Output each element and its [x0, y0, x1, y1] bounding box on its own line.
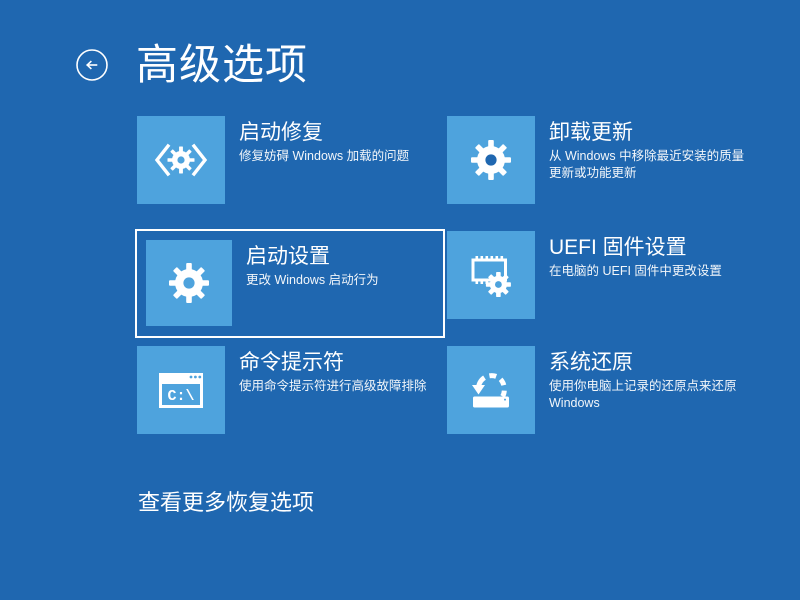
page-header: 高级选项 [74, 36, 308, 94]
chip-gear-icon [467, 253, 515, 297]
tile-description-line: 更新或功能更新 [549, 165, 744, 182]
tile-icon-wrapper: C:\ [137, 346, 225, 434]
tile-description-line: 修复妨碍 Windows 加载的问题 [239, 148, 409, 165]
tile-command-prompt[interactable]: C:\ 命令提示符 使用命令提示符进行高级故障排除 [135, 344, 445, 453]
tile-description: 从 Windows 中移除最近安装的质量 更新或功能更新 [549, 148, 744, 182]
tile-title: UEFI 固件设置 [549, 235, 722, 261]
tile-description: 修复妨碍 Windows 加载的问题 [239, 148, 409, 165]
brackets-gear-icon [153, 143, 209, 177]
tile-startup-repair[interactable]: 启动修复 修复妨碍 Windows 加载的问题 [135, 114, 445, 223]
tile-description-line: 使用命令提示符进行高级故障排除 [239, 378, 427, 395]
tile-description-line: Windows [549, 395, 737, 412]
advanced-options-screen: 高级选项 [0, 0, 800, 600]
tile-text: 系统还原 使用你电脑上记录的还原点来还原 Windows [535, 346, 737, 412]
tile-icon-wrapper [447, 116, 535, 204]
tile-startup-settings[interactable]: 启动设置 更改 Windows 启动行为 [135, 229, 445, 338]
tile-uefi-firmware-settings[interactable]: UEFI 固件设置 在电脑的 UEFI 固件中更改设置 [445, 229, 755, 338]
tile-uninstall-updates[interactable]: 卸载更新 从 Windows 中移除最近安装的质量 更新或功能更新 [445, 114, 755, 223]
tile-system-restore[interactable]: 系统还原 使用你电脑上记录的还原点来还原 Windows [445, 344, 755, 453]
grid-row: C:\ 命令提示符 使用命令提示符进行高级故障排除 [135, 344, 755, 459]
tile-text: 启动设置 更改 Windows 启动行为 [232, 240, 379, 289]
tile-title: 启动设置 [246, 244, 379, 270]
svg-text:C:\: C:\ [167, 388, 194, 405]
tile-icon-wrapper [447, 346, 535, 434]
tile-text: 卸载更新 从 Windows 中移除最近安装的质量 更新或功能更新 [535, 116, 744, 182]
tile-title: 命令提示符 [239, 350, 427, 376]
gear-icon [167, 261, 211, 305]
tile-description: 使用你电脑上记录的还原点来还原 Windows [549, 378, 737, 412]
tile-icon-wrapper [137, 116, 225, 204]
tile-description: 在电脑的 UEFI 固件中更改设置 [549, 263, 722, 280]
tile-title: 启动修复 [239, 120, 409, 146]
tile-description-line: 从 Windows 中移除最近安装的质量 [549, 148, 744, 165]
grid-row: 启动设置 更改 Windows 启动行为 [135, 229, 755, 344]
options-grid: 启动修复 修复妨碍 Windows 加载的问题 [135, 114, 755, 459]
tile-text: 命令提示符 使用命令提示符进行高级故障排除 [225, 346, 427, 395]
back-button[interactable] [74, 47, 110, 83]
console-window-icon: C:\ [157, 370, 205, 410]
see-more-recovery-options-link[interactable]: 查看更多恢复选项 [138, 489, 314, 517]
tile-description-line: 使用你电脑上记录的还原点来还原 [549, 378, 737, 395]
tile-text: UEFI 固件设置 在电脑的 UEFI 固件中更改设置 [535, 231, 722, 280]
tile-description-line: 更改 Windows 启动行为 [246, 272, 379, 289]
tile-title: 系统还原 [549, 350, 737, 376]
grid-row: 启动修复 修复妨碍 Windows 加载的问题 [135, 114, 755, 229]
tile-description: 更改 Windows 启动行为 [246, 272, 379, 289]
tile-description: 使用命令提示符进行高级故障排除 [239, 378, 427, 395]
tile-icon-wrapper [447, 231, 535, 319]
tile-description-line: 在电脑的 UEFI 固件中更改设置 [549, 263, 722, 280]
gear-icon [469, 138, 513, 182]
back-arrow-circle-icon [75, 48, 109, 82]
page-title: 高级选项 [136, 44, 308, 86]
tile-icon-wrapper [146, 240, 232, 326]
drive-restore-icon [467, 368, 515, 412]
tile-title: 卸载更新 [549, 120, 744, 146]
tile-text: 启动修复 修复妨碍 Windows 加载的问题 [225, 116, 409, 165]
